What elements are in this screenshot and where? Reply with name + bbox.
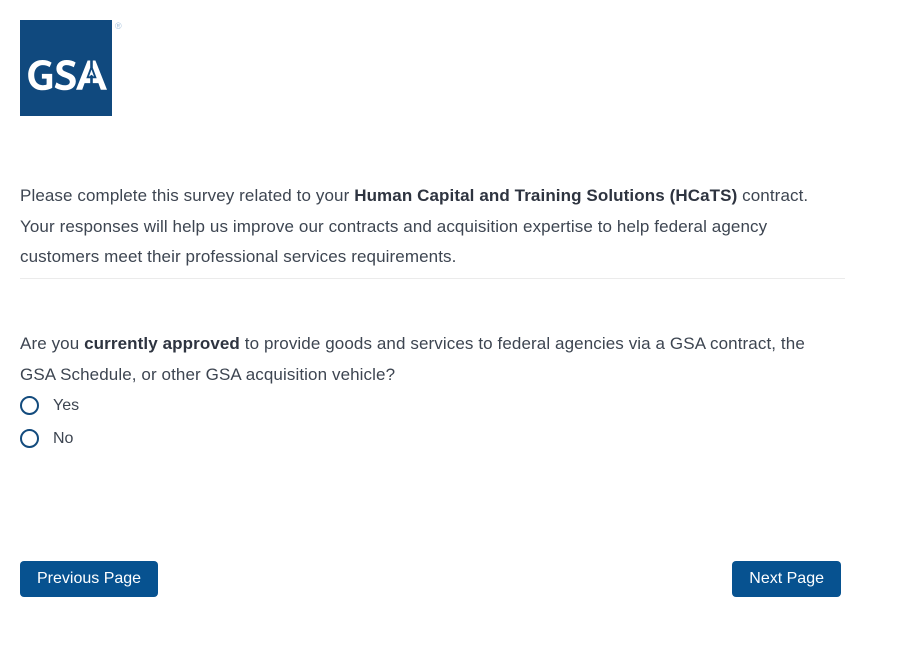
intro-paragraph: Please complete this survey related to y… <box>20 181 840 273</box>
registered-trademark-icon: ® <box>115 22 122 31</box>
question-bold-emphasis: currently approved <box>84 334 240 353</box>
section-divider <box>20 278 845 279</box>
radio-option-no[interactable]: No <box>20 422 320 455</box>
radio-option-yes[interactable]: Yes <box>20 389 320 422</box>
radio-circle-icon-no[interactable] <box>20 429 39 448</box>
previous-page-button[interactable]: Previous Page <box>20 561 158 597</box>
question-text: Are you currently approved to provide go… <box>20 329 840 390</box>
question-text-1: Are you <box>20 334 84 353</box>
next-page-button[interactable]: Next Page <box>732 561 841 597</box>
gsa-logo: ® <box>20 20 140 120</box>
radio-label-yes: Yes <box>53 396 79 416</box>
answer-radio-group: Yes No <box>20 389 320 455</box>
gsa-logo-icon <box>20 20 112 116</box>
intro-text-1: Please complete this survey related to y… <box>20 186 354 205</box>
survey-page: ® Please complete this survey related to… <box>0 0 901 648</box>
intro-bold-contract-name: Human Capital and Training Solutions (HC… <box>354 186 737 205</box>
radio-circle-icon-yes[interactable] <box>20 396 39 415</box>
radio-label-no: No <box>53 429 73 449</box>
